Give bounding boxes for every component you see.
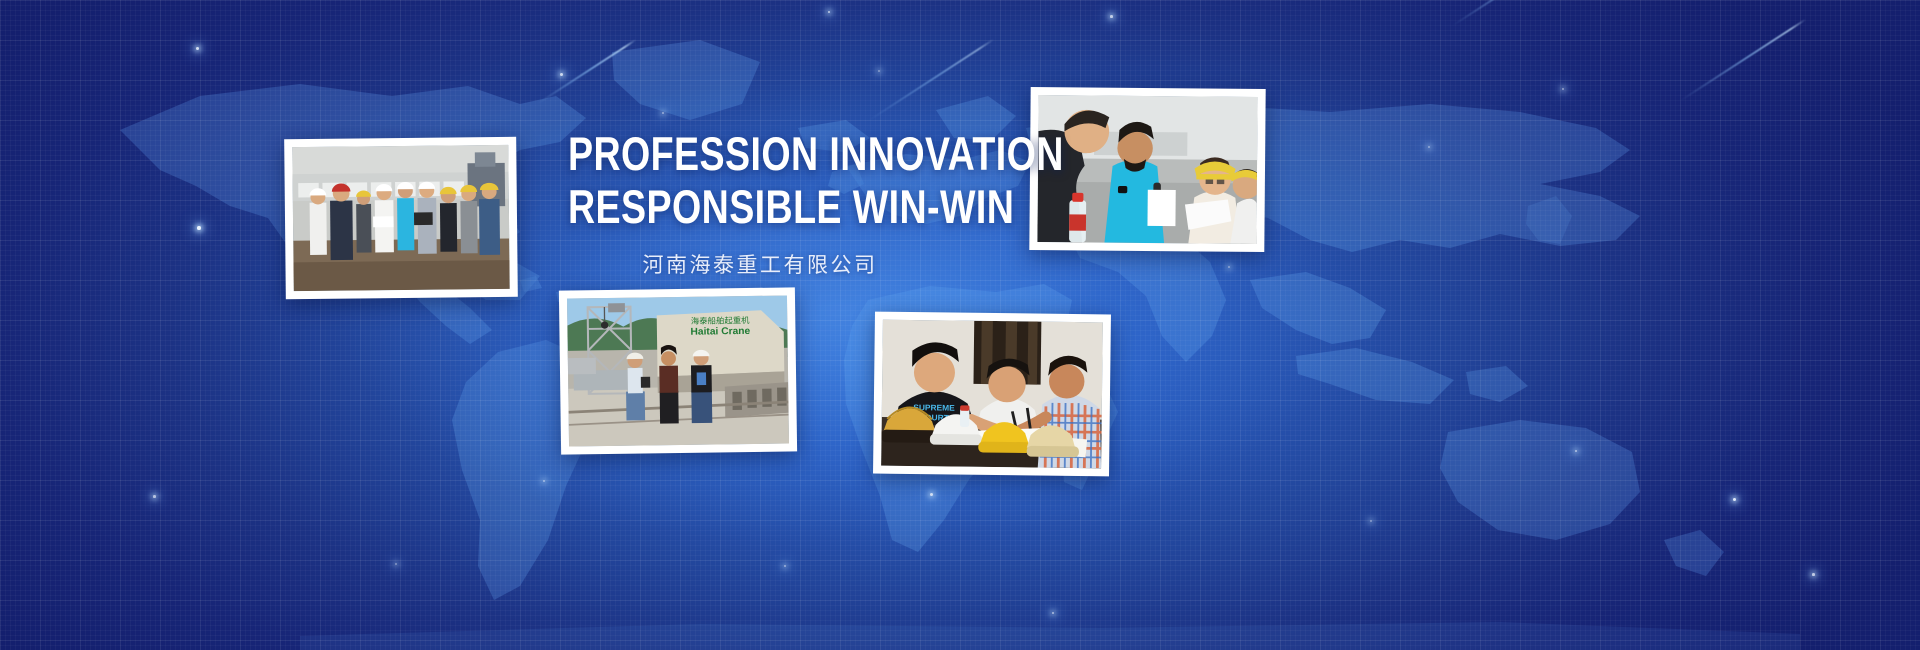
star-dot-3	[560, 73, 563, 76]
star-dot-11	[1733, 498, 1736, 501]
star-dot-9	[1428, 146, 1430, 148]
promo-banner: PROFESSION INNOVATION RESPONSIBLE WIN-WI…	[0, 0, 1920, 650]
photo-haitai-crane-delivery: 海泰船舶起重机 Haitai Crane	[559, 287, 797, 454]
star-dot-17	[395, 563, 397, 565]
headline-text: PROFESSION INNOVATION RESPONSIBLE WIN-WI…	[568, 128, 952, 233]
star-dot-14	[930, 493, 933, 496]
photo-a-image	[292, 145, 509, 291]
photo-contract-signing-meeting: SUPREME COURT	[873, 312, 1111, 477]
star-dot-20	[1052, 612, 1054, 614]
svg-text:海泰船舶起重机: 海泰船舶起重机	[691, 315, 751, 326]
headline-line-2: RESPONSIBLE WIN-WIN	[568, 181, 952, 234]
photo-client-visit-discussion	[1029, 87, 1265, 252]
photo-d-image: SUPREME COURT	[881, 320, 1103, 469]
star-dot-1	[196, 47, 199, 50]
star-dot-12	[1812, 573, 1815, 576]
star-dot-15	[543, 480, 545, 482]
star-dot-7	[1110, 15, 1113, 18]
photo-c-image: 海泰船舶起重机 Haitai Crane	[567, 295, 789, 446]
company-name-subtitle: 河南海泰重工有限公司	[520, 249, 1000, 279]
headline-line-1: PROFESSION INNOVATION	[568, 128, 952, 181]
star-dot-4	[662, 112, 664, 114]
star-dot-16	[153, 495, 156, 498]
headline-block: PROFESSION INNOVATION RESPONSIBLE WIN-WI…	[520, 128, 1000, 279]
photo-workers-site-meeting	[284, 137, 518, 299]
svg-text:Haitai Crane: Haitai Crane	[690, 326, 750, 338]
photo-b-image	[1037, 95, 1257, 244]
star-dot-8	[1228, 266, 1230, 268]
star-dot-10	[1575, 450, 1577, 452]
star-dot-2	[197, 226, 201, 230]
star-dot-13	[1562, 88, 1564, 90]
star-dot-18	[784, 565, 786, 567]
star-dot-19	[1370, 520, 1372, 522]
star-dot-5	[828, 11, 830, 13]
star-dot-6	[878, 70, 880, 72]
